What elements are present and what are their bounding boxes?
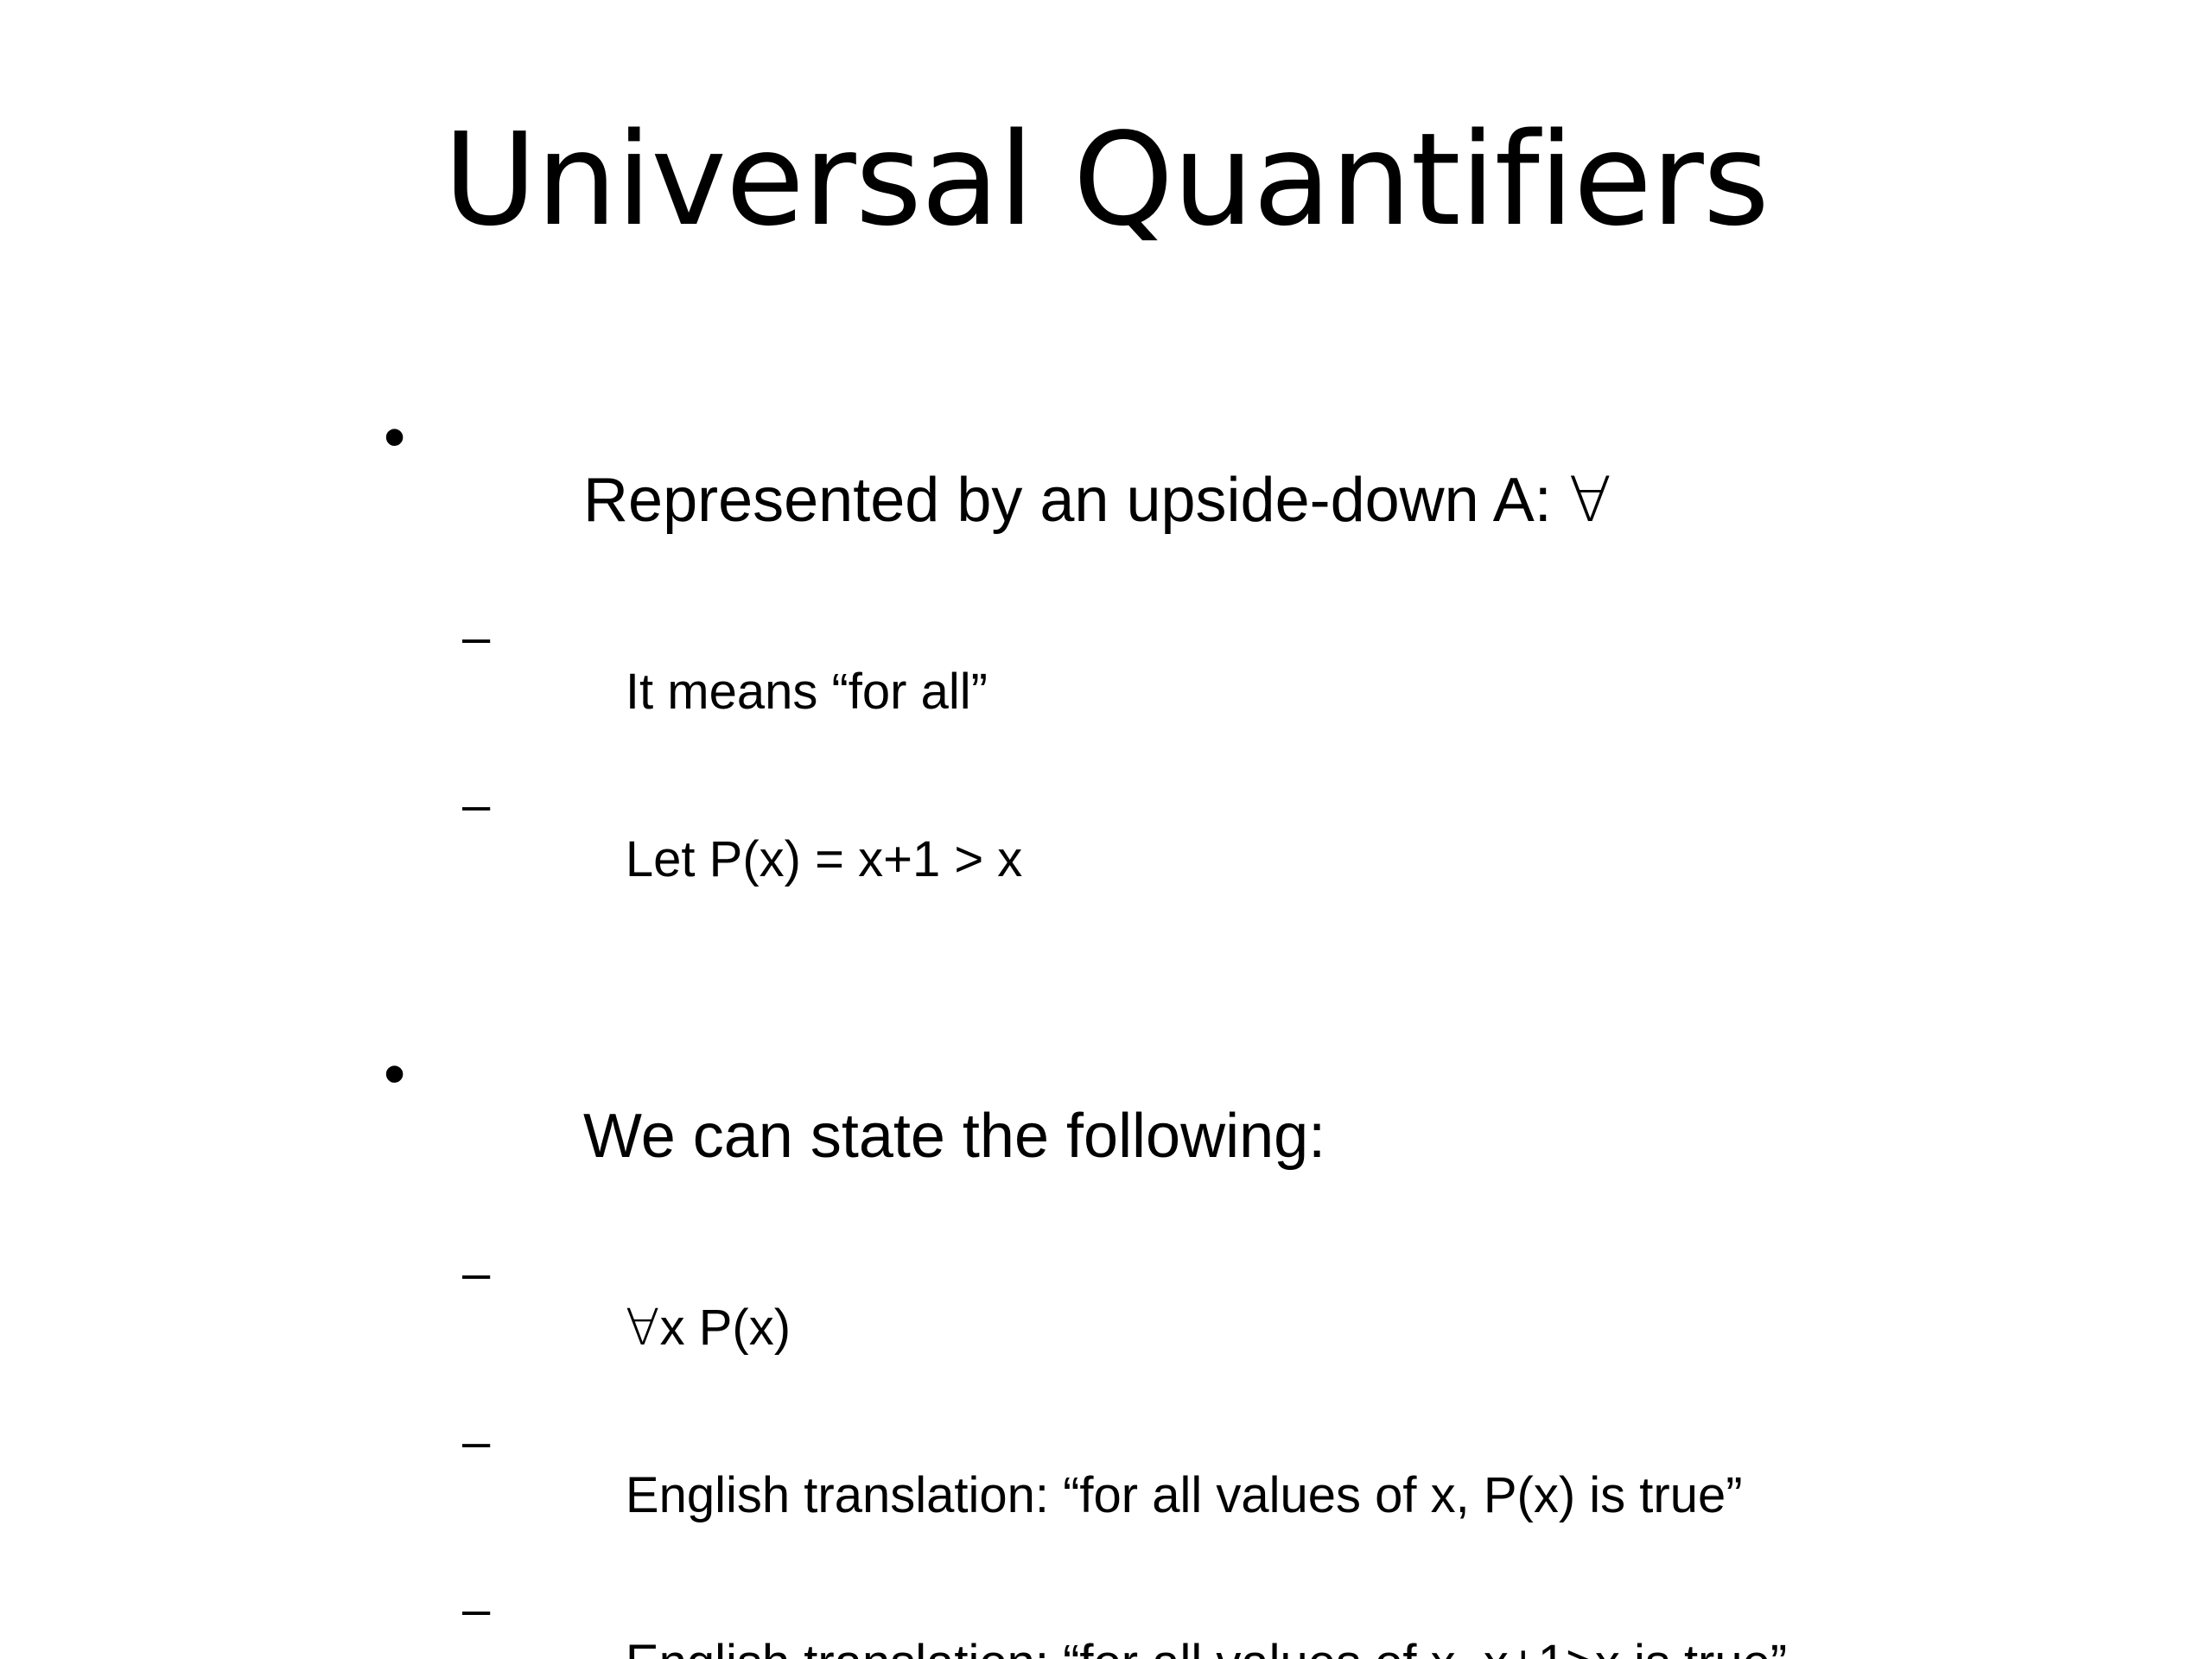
bullet-dot-icon: • xyxy=(384,1043,427,1105)
bullet-level1-text: We can state the following: xyxy=(583,1102,1325,1171)
bullet-dot-icon: • xyxy=(384,406,427,468)
bullet-level2-text: It means “for all” xyxy=(626,664,988,720)
bullet-level2-text: English translation: “for all values of … xyxy=(626,1467,1743,1523)
for-all-symbol-icon: ∀ xyxy=(1569,463,1611,536)
spacer xyxy=(380,1233,1832,1247)
bullet-level1[interactable]: •Represented by an upside-down A: ∀ xyxy=(380,406,1832,594)
bullet-dash-icon: – xyxy=(462,1247,505,1301)
bullet-dash-icon: – xyxy=(462,1415,505,1470)
bullet-dash-icon: – xyxy=(462,779,505,833)
bullet-level2[interactable]: –∀x P(x) xyxy=(380,1247,1832,1410)
page-title: Universal Quantifiers xyxy=(0,109,2212,252)
bullet-dash-icon: – xyxy=(462,611,505,665)
bullet-level1-text: Represented by an upside-down A: xyxy=(583,466,1569,535)
bullet-level1[interactable]: •We can state the following: xyxy=(380,1043,1832,1230)
bullet-level2[interactable]: –English translation: “for all values of… xyxy=(380,1583,1832,1659)
bullet-level2[interactable]: –It means “for all” xyxy=(380,611,1832,773)
bullet-level2-text: x P(x) xyxy=(660,1300,791,1356)
bullet-dash-icon: – xyxy=(462,1583,505,1637)
bullet-group-2: •We can state the following: –∀x P(x) –E… xyxy=(380,1043,1832,1659)
bullet-level2-text: Let P(x) = x+1 > x xyxy=(626,831,1022,887)
bullet-level2-text: English translation: “for all values of … xyxy=(626,1635,1787,1659)
slide-canvas: Universal Quantifiers •Represented by an… xyxy=(0,0,2212,1659)
bullet-level2[interactable]: –Let P(x) = x+1 > x xyxy=(380,779,1832,941)
for-all-symbol-icon: ∀ xyxy=(626,1298,660,1357)
bullet-level2[interactable]: –English translation: “for all values of… xyxy=(380,1415,1832,1578)
bullet-group-1: •Represented by an upside-down A: ∀ –It … xyxy=(380,406,1832,941)
spacer xyxy=(380,597,1832,611)
group-spacer xyxy=(380,946,1832,1043)
slide-body: •Represented by an upside-down A: ∀ –It … xyxy=(380,406,1832,1659)
